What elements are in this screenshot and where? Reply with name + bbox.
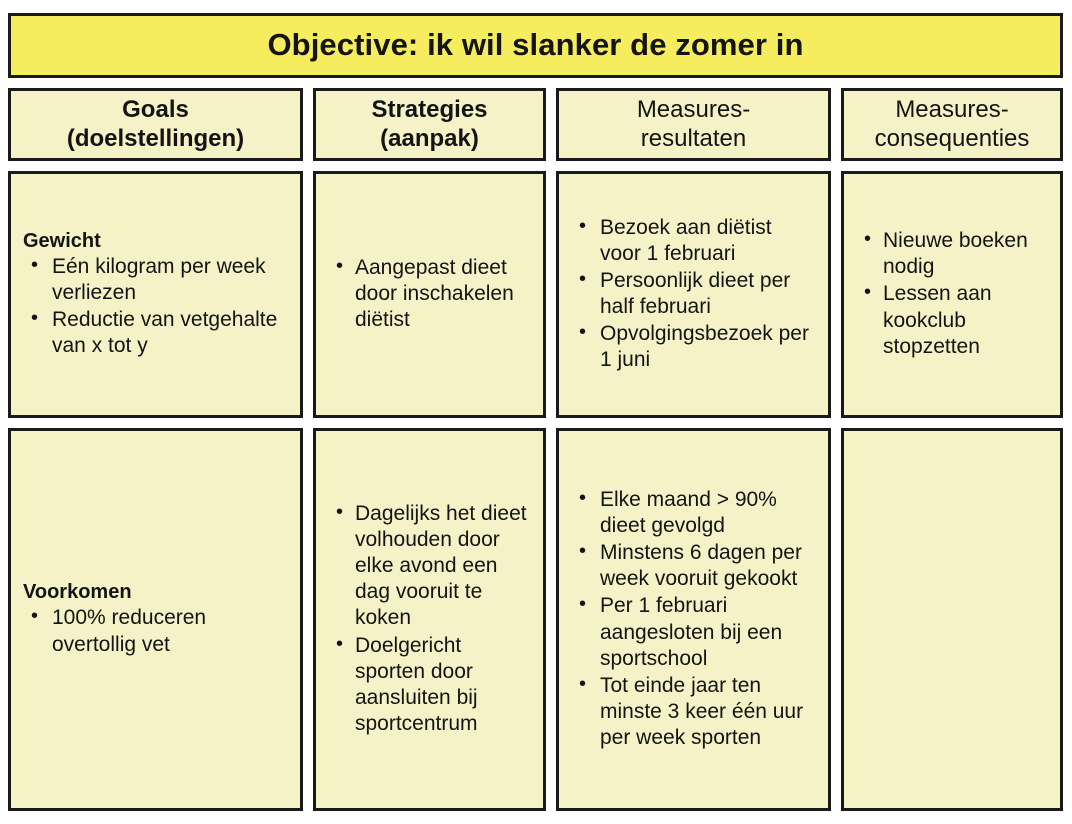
column-header-measures-consequenties: Measures- consequenties — [841, 88, 1063, 161]
column-header-measures-consequenties-text: Measures- consequenties — [875, 96, 1030, 153]
cell-strategies-gewicht: Aangepast dieet door inschakelen diëtist — [313, 171, 546, 418]
column-header-goals-text: Goals (doelstellingen) — [67, 96, 244, 153]
bullet-list: Bezoek aan diëtist voor 1 februari Perso… — [571, 215, 818, 373]
list-item: Dagelijks het dieet volhouden door elke … — [328, 501, 533, 631]
cell-resultaten-gewicht-inner: Bezoek aan diëtist voor 1 februari Perso… — [571, 215, 818, 374]
bullet-list: Elke maand > 90% dieet gevolgd Minstens … — [571, 487, 818, 750]
column-header-goals-line2: (doelstellingen) — [67, 125, 244, 153]
list-item: Tot einde jaar ten minste 3 keer één uur… — [571, 673, 818, 751]
bullet-list: Eén kilogram per week verliezen Reductie… — [23, 254, 290, 359]
cell-resultaten-voorkomen-inner: Elke maand > 90% dieet gevolgd Minstens … — [571, 487, 818, 751]
list-item: Per 1 februari aangesloten bij een sport… — [571, 593, 818, 671]
cell-goals-gewicht: Gewicht Eén kilogram per week verliezen … — [8, 171, 303, 418]
bullet-list: 100% reduceren overtollig vet — [23, 605, 290, 657]
cell-resultaten-gewicht: Bezoek aan diëtist voor 1 februari Perso… — [556, 171, 831, 418]
column-header-strategies-line2: (aanpak) — [371, 125, 487, 153]
list-item: Eén kilogram per week verliezen — [23, 254, 290, 306]
column-header-measures-consequenties-line2: consequenties — [875, 125, 1030, 153]
bullet-list: Nieuwe boeken nodig Lessen aan kookclub … — [856, 228, 1050, 359]
list-item: Doelgericht sporten door aansluiten bij … — [328, 633, 533, 737]
list-item: Opvolgingsbezoek per 1 juni — [571, 321, 818, 373]
bullet-list: Dagelijks het dieet volhouden door elke … — [328, 501, 533, 736]
column-header-measures-resultaten-text: Measures- resultaten — [637, 96, 750, 153]
cell-heading-voorkomen: Voorkomen — [23, 580, 290, 604]
list-item: Minstens 6 dagen per week vooruit gekook… — [571, 540, 818, 592]
column-header-strategies: Strategies (aanpak) — [313, 88, 546, 161]
column-header-measures-resultaten-line1: Measures- — [637, 96, 750, 123]
column-header-goals: Goals (doelstellingen) — [8, 88, 303, 161]
objective-title: Objective: ik wil slanker de zomer in — [267, 29, 803, 62]
list-item: 100% reduceren overtollig vet — [23, 605, 290, 657]
column-header-measures-consequenties-line1: Measures- — [895, 96, 1008, 123]
objective-banner: Objective: ik wil slanker de zomer in — [8, 13, 1063, 78]
cell-strategies-voorkomen-inner: Dagelijks het dieet volhouden door elke … — [328, 501, 533, 737]
list-item: Lessen aan kookclub stopzetten — [856, 281, 1050, 359]
list-item: Nieuwe boeken nodig — [856, 228, 1050, 280]
cell-strategies-gewicht-inner: Aangepast dieet door inschakelen diëtist — [328, 255, 533, 334]
list-item: Aangepast dieet door inschakelen diëtist — [328, 255, 533, 333]
list-item: Bezoek aan diëtist voor 1 februari — [571, 215, 818, 267]
objective-matrix-board: Objective: ik wil slanker de zomer in Go… — [0, 0, 1072, 824]
column-header-goals-line1: Goals — [122, 96, 189, 123]
list-item: Reductie van vetgehalte van x tot y — [23, 307, 290, 359]
cell-goals-voorkomen: Voorkomen 100% reduceren overtollig vet — [8, 428, 303, 811]
cell-goals-voorkomen-inner: Voorkomen 100% reduceren overtollig vet — [23, 580, 290, 658]
cell-consequenties-gewicht-inner: Nieuwe boeken nodig Lessen aan kookclub … — [856, 228, 1050, 360]
list-item: Elke maand > 90% dieet gevolgd — [571, 487, 818, 539]
cell-goals-gewicht-inner: Gewicht Eén kilogram per week verliezen … — [23, 229, 290, 360]
bullet-list: Aangepast dieet door inschakelen diëtist — [328, 255, 533, 333]
column-header-measures-resultaten: Measures- resultaten — [556, 88, 831, 161]
cell-resultaten-voorkomen: Elke maand > 90% dieet gevolgd Minstens … — [556, 428, 831, 811]
column-header-strategies-text: Strategies (aanpak) — [371, 96, 487, 153]
list-item: Persoonlijk dieet per half februari — [571, 268, 818, 320]
cell-heading-gewicht: Gewicht — [23, 229, 290, 253]
cell-strategies-voorkomen: Dagelijks het dieet volhouden door elke … — [313, 428, 546, 811]
column-header-strategies-line1: Strategies — [371, 96, 487, 123]
cell-consequenties-gewicht: Nieuwe boeken nodig Lessen aan kookclub … — [841, 171, 1063, 418]
cell-consequenties-voorkomen — [841, 428, 1063, 811]
column-header-measures-resultaten-line2: resultaten — [637, 125, 750, 153]
